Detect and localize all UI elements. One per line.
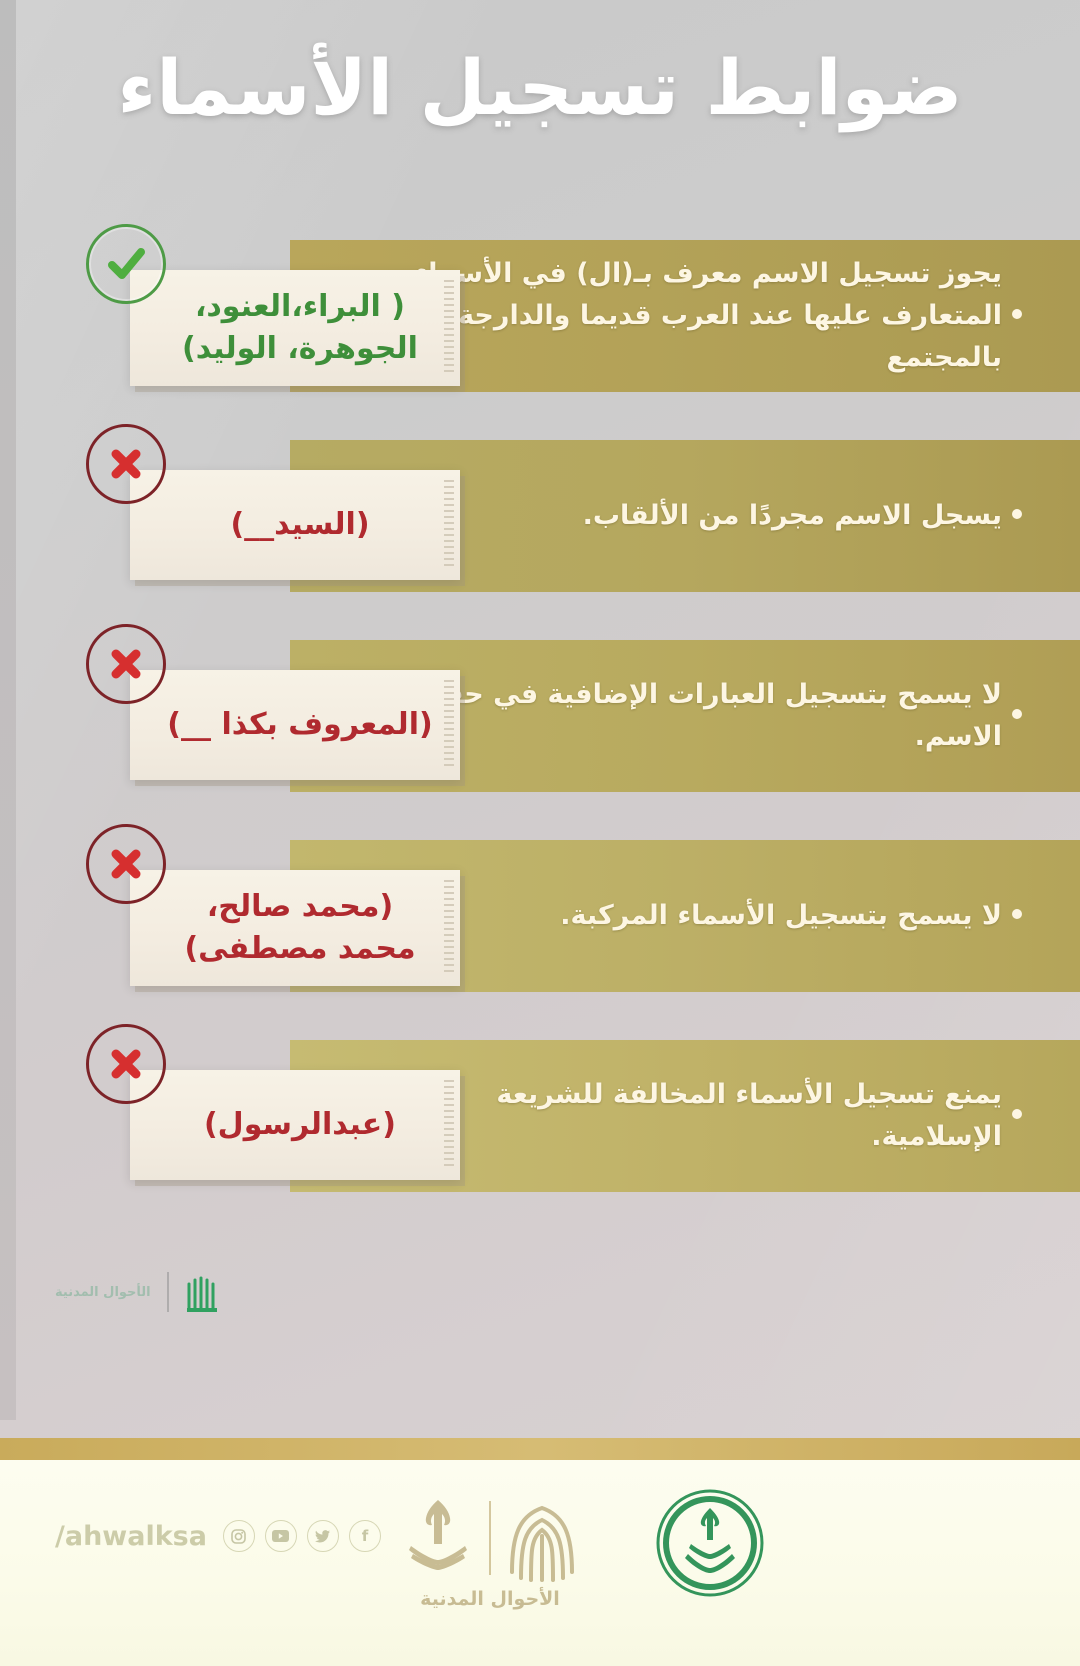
card-spine-decoration [444, 880, 454, 976]
infographic-poster: ضوابط تسجيل الأسماء يجوز تسجيل الاسم معر… [0, 0, 1080, 1666]
ministry-of-interior-icon [655, 1488, 765, 1598]
facebook-glyph: f [362, 1527, 369, 1545]
example-text: ( البراء،العنود، الجوهرة، الوليد) [164, 286, 436, 370]
brandmark-divider [167, 1272, 169, 1312]
brandmark-watermark: الأحوال المدنية [55, 1270, 219, 1314]
facebook-icon[interactable]: f [349, 1520, 381, 1552]
page-title: ضوابط تسجيل الأسماء [0, 40, 1080, 135]
example-card: (السيد__) [130, 470, 460, 580]
brandmark-label: الأحوال المدنية [55, 1285, 151, 1300]
social-links[interactable]: f /ahwalksa [55, 1520, 381, 1552]
rule-text-container: لا يسمح بتسجيل الأسماء المركبة. [360, 840, 1040, 992]
youtube-icon[interactable] [265, 1520, 297, 1552]
rule-text-container: يمنع تسجيل الأسماء المخالفة للشريعة الإس… [360, 1040, 1040, 1192]
example-card: (المعروف بكذا __) [130, 670, 460, 780]
card-spine-decoration [444, 1080, 454, 1170]
example-card: (محمد صالح، محمد مصطفى) [130, 870, 460, 986]
rule-text-container: لا يسمح بتسجيل العبارات الإضافية في حقل … [360, 640, 1040, 792]
card-spine-decoration [444, 280, 454, 376]
bullet-icon [1012, 909, 1022, 919]
bullet-icon [1012, 1109, 1022, 1119]
card-spine-decoration [444, 680, 454, 770]
bullet-icon [1012, 709, 1022, 719]
instagram-icon[interactable] [223, 1520, 255, 1552]
cross-icon [86, 1024, 166, 1104]
example-text: (المعروف بكذا __) [164, 704, 436, 746]
rules-list: يجوز تسجيل الاسم معرف بـ(ال) في الأسماء … [0, 232, 1080, 1232]
example-text: (السيد__) [164, 504, 436, 546]
saudi-emblem-icon [401, 1492, 475, 1584]
rule-text-container: يجوز تسجيل الاسم معرف بـ(ال) في الأسماء … [360, 240, 1040, 392]
civil-affairs-caption: الأحوال المدنية [400, 1588, 580, 1610]
cross-icon [86, 624, 166, 704]
fingerprint-icon [185, 1270, 219, 1314]
logo-divider [489, 1501, 491, 1575]
example-text: (محمد صالح، محمد مصطفى) [164, 886, 436, 970]
fingerprint-icon [505, 1492, 579, 1584]
rule-row: لا يسمح بتسجيل العبارات الإضافية في حقل … [0, 632, 1080, 832]
bullet-icon [1012, 509, 1022, 519]
bullet-icon [1012, 309, 1022, 319]
rule-row: يسجل الاسم مجردًا من الألقاب. (السيد__) [0, 432, 1080, 632]
cross-icon [86, 424, 166, 504]
rule-row: يجوز تسجيل الاسم معرف بـ(ال) في الأسماء … [0, 232, 1080, 432]
cross-icon [86, 824, 166, 904]
civil-affairs-logo: الأحوال المدنية [400, 1490, 580, 1610]
footer: f /ahwalksa [0, 1460, 1080, 1666]
gold-divider [0, 1438, 1080, 1460]
rule-text-container: يسجل الاسم مجردًا من الألقاب. [360, 440, 1040, 592]
social-handle[interactable]: /ahwalksa [55, 1521, 207, 1552]
rule-row: يمنع تسجيل الأسماء المخالفة للشريعة الإس… [0, 1032, 1080, 1232]
check-icon [86, 224, 166, 304]
rule-row: لا يسمح بتسجيل الأسماء المركبة. (محمد صا… [0, 832, 1080, 1032]
twitter-icon[interactable] [307, 1520, 339, 1552]
example-text: (عبدالرسول) [164, 1104, 436, 1146]
example-card: ( البراء،العنود، الجوهرة، الوليد) [130, 270, 460, 386]
example-card: (عبدالرسول) [130, 1070, 460, 1180]
card-spine-decoration [444, 480, 454, 570]
